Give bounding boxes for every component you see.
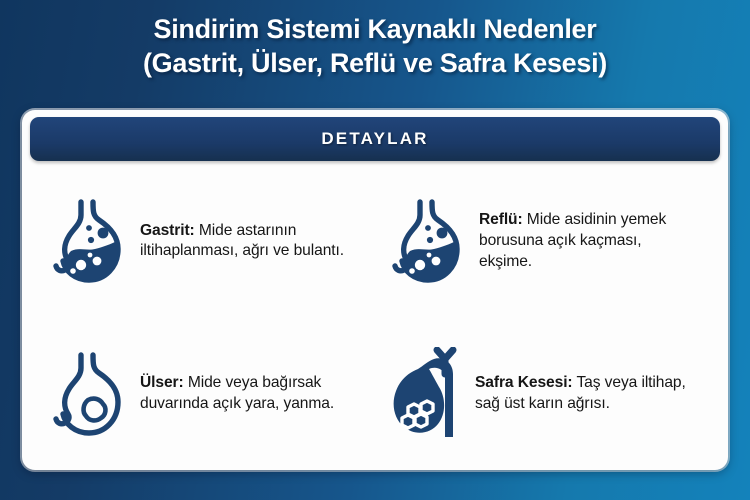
list-item-text: Reflü: Mide asidinin yemek borusuna açık… — [479, 210, 694, 272]
list-item-text: Safra Kesesi: Taş veya iltihap, sağ üst … — [475, 373, 690, 414]
details-header-label: DETAYLAR — [321, 129, 428, 149]
ulcer-lesion — [84, 398, 106, 420]
details-grid: Gastrit: Mide astarının iltihaplanması, … — [22, 165, 728, 470]
list-item: Gastrit: Mide astarının iltihaplanması, … — [22, 165, 375, 318]
page-title: Sindirim Sistemi Kaynaklı Nedenler (Gast… — [0, 0, 750, 80]
title-line-2: (Gastrit, Ülser, Reflü ve Safra Kesesi) — [0, 46, 750, 80]
list-item-label: Reflü: — [479, 211, 523, 228]
stomach-filled-icon — [44, 189, 136, 293]
list-item: Ülser: Mide veya bağırsak duvarında açık… — [22, 318, 375, 471]
title-line-1: Sindirim Sistemi Kaynaklı Nedenler — [0, 12, 750, 46]
list-item-label: Safra Kesesi: — [475, 374, 573, 391]
details-card-header: DETAYLAR — [30, 117, 720, 161]
list-item-label: Gastrit: — [140, 222, 195, 239]
stomach-outline-ulcer-icon — [44, 342, 136, 446]
list-item: Reflü: Mide asidinin yemek borusuna açık… — [375, 165, 728, 318]
stomach-filled-icon — [383, 189, 475, 293]
gallbladder-icon — [379, 342, 471, 446]
list-item-text: Gastrit: Mide astarının iltihaplanması, … — [140, 221, 355, 262]
list-item: Safra Kesesi: Taş veya iltihap, sağ üst … — [375, 318, 728, 471]
list-item-label: Ülser: — [140, 374, 184, 391]
details-card: DETAYLAR — [22, 110, 728, 470]
list-item-text: Ülser: Mide veya bağırsak duvarında açık… — [140, 373, 355, 414]
